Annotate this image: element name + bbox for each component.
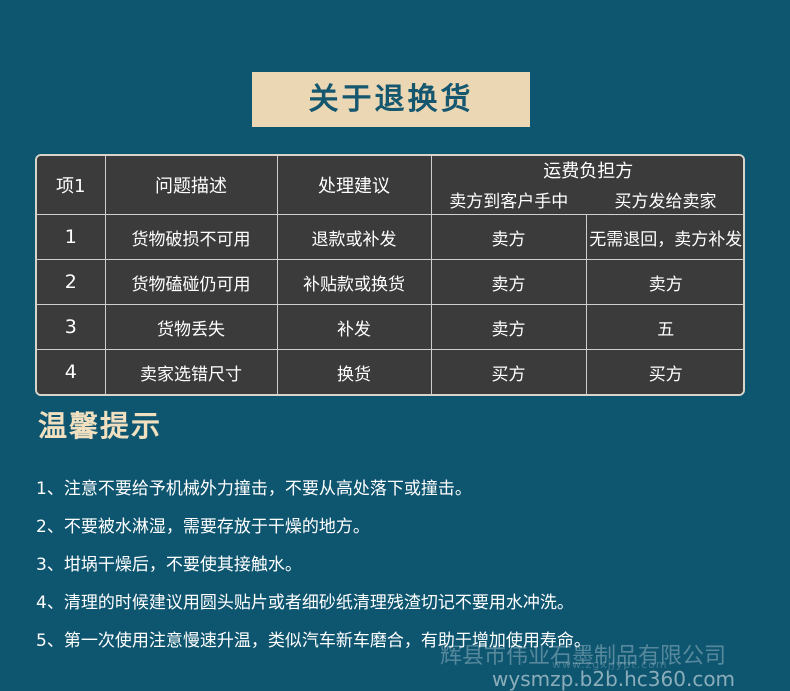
cell-advice: 退款或补发 <box>277 215 431 260</box>
table-row: 1 货物破损不可用 退款或补发 卖方 无需退回，卖方补发 <box>37 215 745 260</box>
cell-ship-buyer-to-seller: 五 <box>586 305 745 350</box>
list-item: 5、第一次使用注意慢速升温，类似汽车新车磨合，有助于增加使用寿命。 <box>36 622 756 660</box>
page-title-banner: 关于退换货 <box>252 72 530 127</box>
watermark-primary-url: wysmzp.b2b.hc360.com <box>492 667 735 691</box>
list-item: 1、注意不要给予机械外力撞击，不要从高处落下或撞击。 <box>36 470 756 508</box>
cell-ship-seller-to-customer: 卖方 <box>431 305 586 350</box>
cell-ship-buyer-to-seller: 买方 <box>586 350 745 395</box>
cell-index: 1 <box>37 215 105 260</box>
cell-advice: 换货 <box>277 350 431 395</box>
column-header-shipping-buyer-to-seller: 买方发给卖家 <box>586 184 745 215</box>
list-item: 4、清理的时候建议用圆头贴片或者细砂纸清理残渣切记不要用水冲洗。 <box>36 584 756 622</box>
column-header-shipping-seller-to-customer: 卖方到客户手中 <box>431 184 586 215</box>
list-item: 2、不要被水淋湿，需要存放于干燥的地方。 <box>36 508 756 546</box>
cell-ship-seller-to-customer: 卖方 <box>431 215 586 260</box>
cell-problem: 货物磕碰仍可用 <box>105 260 277 305</box>
column-header-shipping-group: 运费负担方 <box>431 156 745 184</box>
returns-policy-table: 项1 问题描述 处理建议 运费负担方 卖方到客户手中 买方发给卖家 1 货物破损… <box>35 154 745 396</box>
tips-list: 1、注意不要给予机械外力撞击，不要从高处落下或撞击。 2、不要被水淋湿，需要存放… <box>36 470 756 660</box>
list-item: 3、坩埚干燥后，不要使其接触水。 <box>36 546 756 584</box>
cell-index: 2 <box>37 260 105 305</box>
cell-ship-seller-to-customer: 买方 <box>431 350 586 395</box>
cell-problem: 卖家选错尺寸 <box>105 350 277 395</box>
table-header-row: 项1 问题描述 处理建议 运费负担方 <box>37 156 745 184</box>
column-header-item: 项1 <box>37 156 105 215</box>
cell-problem: 货物丢失 <box>105 305 277 350</box>
cell-problem: 货物破损不可用 <box>105 215 277 260</box>
table-row: 4 卖家选错尺寸 换货 买方 买方 <box>37 350 745 395</box>
cell-ship-buyer-to-seller: 无需退回，卖方补发 <box>586 215 745 260</box>
table-row: 2 货物磕碰仍可用 补贴款或换货 卖方 卖方 <box>37 260 745 305</box>
column-header-advice: 处理建议 <box>277 156 431 215</box>
cell-advice: 补发 <box>277 305 431 350</box>
cell-ship-seller-to-customer: 卖方 <box>431 260 586 305</box>
page-title: 关于退换货 <box>309 85 474 115</box>
tips-heading: 温馨提示 <box>38 412 162 441</box>
table-row: 3 货物丢失 补发 卖方 五 <box>37 305 745 350</box>
cell-index: 4 <box>37 350 105 395</box>
column-header-problem: 问题描述 <box>105 156 277 215</box>
cell-index: 3 <box>37 305 105 350</box>
cell-ship-buyer-to-seller: 卖方 <box>586 260 745 305</box>
cell-advice: 补贴款或换货 <box>277 260 431 305</box>
